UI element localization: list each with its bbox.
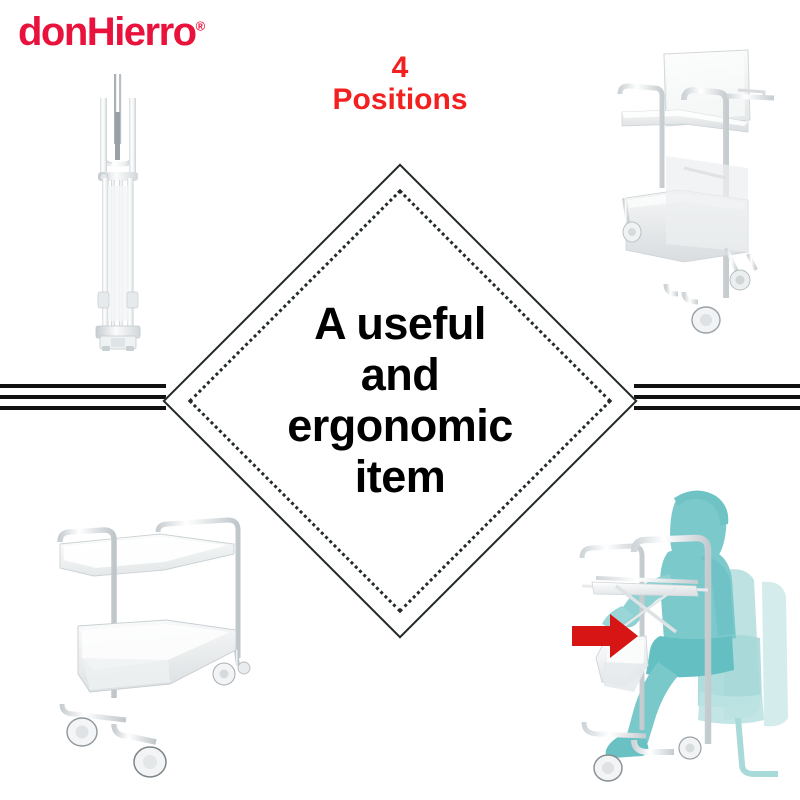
registered-trademark-icon: ® bbox=[196, 19, 206, 34]
brand-logo: donHierro® bbox=[18, 12, 205, 52]
slogan-line-4: item bbox=[355, 452, 446, 503]
slogan-line-1: A useful bbox=[314, 299, 486, 350]
slogan-line-2: and bbox=[361, 350, 440, 401]
open-trolley-photo bbox=[38, 498, 286, 788]
folded-trolley-photo bbox=[78, 68, 158, 358]
slogan-line-3: ergonomic bbox=[287, 401, 513, 452]
half-folded-trolley-graphic bbox=[588, 48, 800, 358]
open-trolley-graphic bbox=[38, 498, 286, 788]
half-folded-trolley-photo bbox=[588, 48, 800, 358]
seated-person-graphic bbox=[548, 486, 800, 796]
poster-canvas: donHierro® 4 Positions A useful and ergo… bbox=[0, 0, 800, 800]
brand-name: donHierro bbox=[18, 10, 196, 54]
folded-trolley-graphic bbox=[78, 68, 158, 358]
seated-person-illustration bbox=[548, 486, 800, 796]
